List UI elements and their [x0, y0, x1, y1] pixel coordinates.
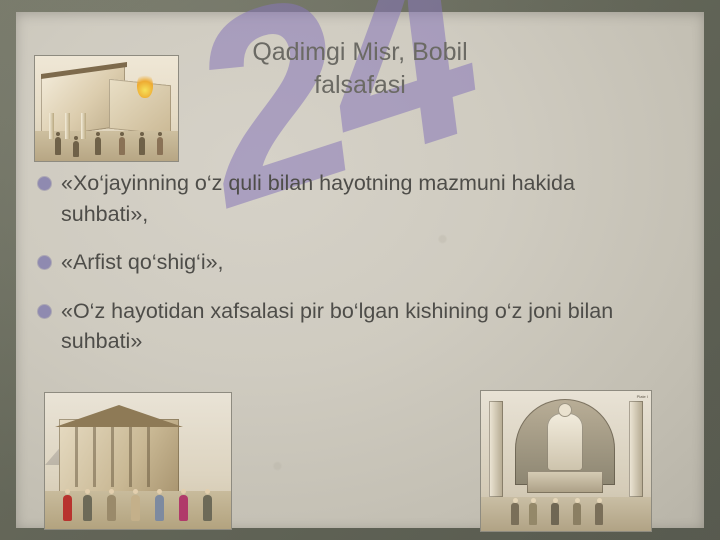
engraving-figure	[107, 495, 116, 521]
engraving-column	[81, 113, 86, 139]
engraving-column	[75, 427, 78, 487]
engraving-flame	[137, 72, 153, 98]
babylonian-temple-engraving	[44, 392, 232, 530]
bullet-list: «Xo‘jayinning o‘z quli bilan hayotning m…	[38, 168, 686, 375]
bullet-dot-icon	[38, 305, 51, 318]
engraving-figure	[131, 495, 140, 521]
title-line-2: falsafasi	[140, 69, 580, 102]
egyptian-palace-engraving	[34, 55, 179, 162]
engraving-figure	[529, 503, 537, 525]
engraving-column	[93, 427, 96, 487]
engraving-figure	[595, 503, 603, 525]
list-item: «Xo‘jayinning o‘z quli bilan hayotning m…	[38, 168, 686, 229]
bullet-dot-icon	[38, 177, 51, 190]
engraving-statue	[547, 413, 583, 471]
engraving-figure	[63, 495, 72, 521]
engraving-figure	[573, 503, 581, 525]
engraving-plinth	[527, 471, 603, 493]
bullet-text: «Arfist qo‘shig‘i»,	[61, 247, 224, 278]
bullet-text: «Xo‘jayinning o‘z quli bilan hayotning m…	[61, 168, 661, 229]
engraving-figure	[139, 137, 145, 155]
list-item: «O‘z hayotidan xafsalasi pir bo‘lgan kis…	[38, 296, 686, 357]
engraving-column	[65, 113, 70, 139]
engraving-column	[49, 113, 54, 139]
engraving-figure	[551, 503, 559, 525]
engraving-figure	[95, 137, 101, 155]
engraving-figure	[157, 137, 163, 155]
engraving-column	[147, 427, 150, 487]
engraving-column	[489, 401, 503, 497]
engraving-column	[629, 401, 643, 497]
engraving-figure	[83, 495, 92, 521]
title-line-1: Qadimgi Misr, Bobil	[140, 36, 580, 69]
engraving-plate-caption: Plate I	[637, 394, 648, 399]
engraving-figure	[55, 137, 61, 155]
seated-statue-hall-engraving: Plate I	[480, 390, 652, 532]
bullet-text: «O‘z hayotidan xafsalasi pir bo‘lgan kis…	[61, 296, 661, 357]
engraving-column	[111, 427, 114, 487]
engraving-figure	[511, 503, 519, 525]
engraving-figure	[203, 495, 212, 521]
engraving-floor	[481, 497, 651, 531]
list-item: «Arfist qo‘shig‘i»,	[38, 247, 686, 278]
page-title: Qadimgi Misr, Bobil falsafasi	[140, 36, 580, 102]
engraving-figure	[155, 495, 164, 521]
slide-canvas: 24 Qadimgi Misr, Bobil falsafasi «Xo‘jay…	[0, 0, 720, 540]
engraving-figure	[179, 495, 188, 521]
bullet-dot-icon	[38, 256, 51, 269]
engraving-figure	[119, 137, 125, 155]
engraving-column	[129, 427, 132, 487]
engraving-figure	[73, 141, 79, 157]
